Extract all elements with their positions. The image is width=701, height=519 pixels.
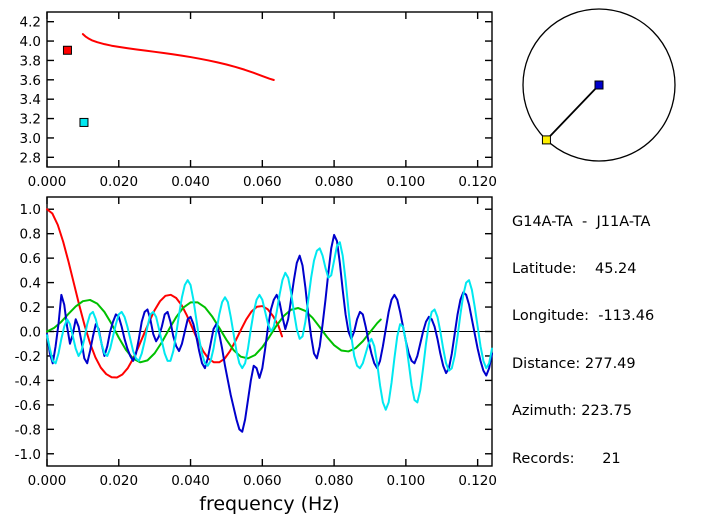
y-tick-label: 0.2	[20, 300, 41, 316]
y-tick-label: -0.8	[15, 422, 41, 438]
y-tick-label: 4.0	[20, 34, 41, 50]
station-center-marker	[595, 81, 603, 89]
x-tick-label: 0.100	[387, 473, 426, 489]
station-info-panel: G14A-TA - J11A-TA Latitude: 45.24 Longit…	[512, 183, 701, 499]
y-tick-label: 3.8	[20, 53, 41, 69]
x-tick-label: 0.040	[171, 174, 210, 190]
x-tick-label: 0.040	[171, 473, 210, 489]
y-tick-label: 3.6	[20, 73, 41, 89]
y-tick-label: -0.4	[15, 373, 41, 389]
x-tick-label: 0.060	[243, 473, 282, 489]
y-tick-label: 3.4	[20, 92, 41, 108]
y-tick-label: 0.6	[20, 251, 41, 267]
dispersion-panel: 0.0000.0200.0400.0600.0800.1000.1202.83.…	[20, 12, 497, 190]
plot-page: 0.0000.0200.0400.0600.0800.1000.1202.83.…	[0, 0, 701, 519]
marker-cyan	[80, 118, 88, 126]
x-axis-label: frequency (Hz)	[199, 493, 339, 515]
station-pair-title: G14A-TA - J11A-TA	[512, 215, 701, 231]
azimuth-row: Azimuth: 223.75	[512, 404, 701, 420]
longitude-row: Longitude: -113.46	[512, 309, 701, 325]
station-azimuth-circle	[523, 9, 675, 161]
y-tick-label: 0.8	[20, 227, 41, 243]
y-tick-label: -0.2	[15, 349, 41, 365]
y-tick-label: 4.2	[20, 15, 41, 31]
y-tick-label: -1.0	[15, 447, 41, 463]
y-tick-label: -0.6	[15, 398, 41, 414]
x-tick-label: 0.120	[458, 174, 497, 190]
y-tick-label: 1.0	[20, 202, 41, 218]
latitude-row: Latitude: 45.24	[512, 262, 701, 278]
station-edge-marker	[542, 136, 550, 144]
crosscorrelation-spectra-panel: 0.0000.0200.0400.0600.0800.1000.120-1.0-…	[15, 197, 497, 515]
x-tick-label: 0.000	[28, 473, 67, 489]
x-tick-label: 0.080	[315, 174, 354, 190]
phase-velocity-curve	[83, 34, 274, 80]
dispersion-frame	[47, 12, 492, 167]
marker-red	[63, 46, 71, 54]
x-tick-label: 0.100	[387, 174, 426, 190]
x-tick-label: 0.000	[28, 174, 67, 190]
y-tick-label: 3.0	[20, 131, 41, 147]
x-tick-label: 0.060	[243, 174, 282, 190]
x-tick-label: 0.120	[458, 473, 497, 489]
y-tick-label: 2.8	[20, 150, 41, 166]
y-tick-label: 0.4	[20, 276, 41, 292]
x-tick-label: 0.080	[315, 473, 354, 489]
y-tick-label: 3.2	[20, 112, 41, 128]
x-tick-label: 0.020	[99, 174, 138, 190]
y-tick-label: 0.0	[20, 325, 41, 341]
azimuth-path-line	[546, 85, 599, 140]
distance-row: Distance: 277.49	[512, 357, 701, 373]
x-tick-label: 0.020	[99, 473, 138, 489]
records-row: Records: 21	[512, 452, 701, 468]
